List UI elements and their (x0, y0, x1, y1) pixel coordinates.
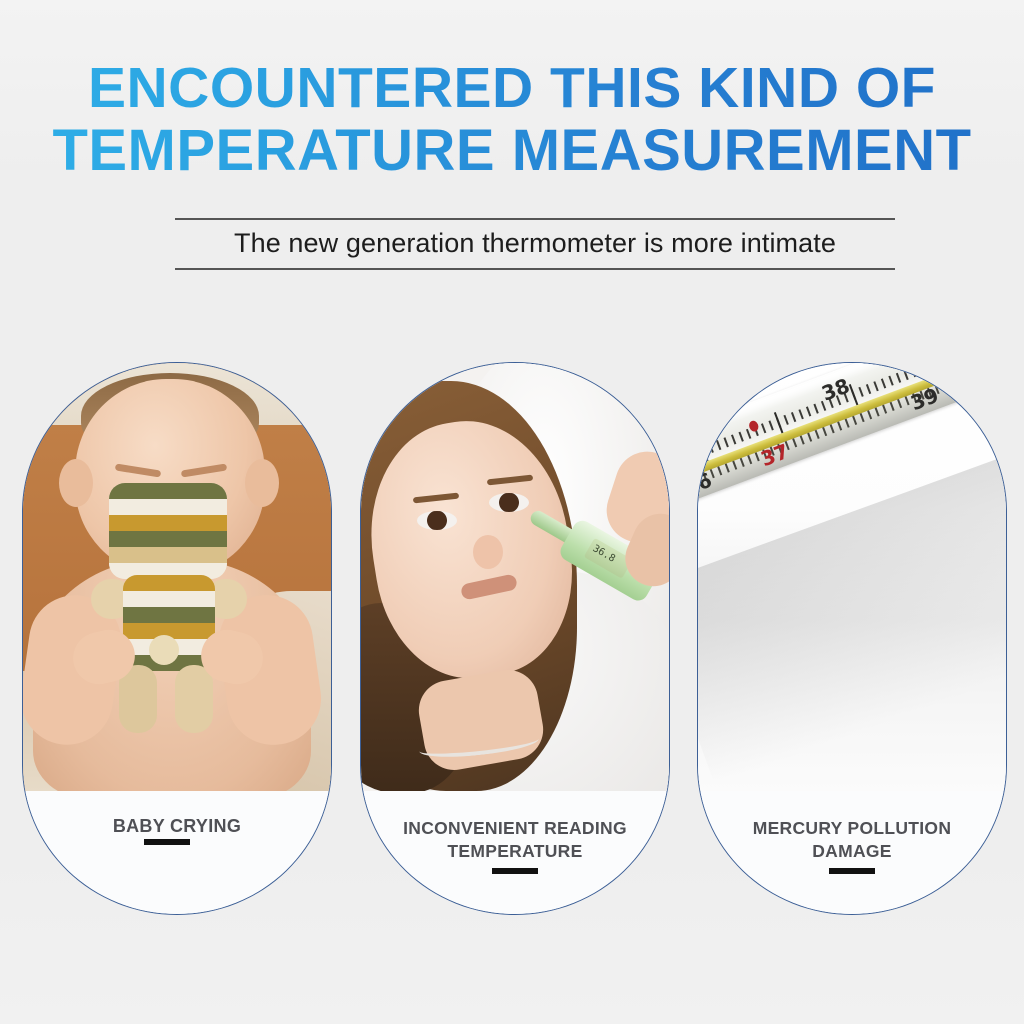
card-mercury-pollution[interactable]: 36 37 38 39 40 MERCURY POLLUTION DAMAGE (697, 362, 1007, 915)
caption-line-1: INCONVENIENT READING (403, 818, 627, 838)
card-caption-area: BABY CRYING (23, 791, 331, 914)
card-baby-crying[interactable]: BABY CRYING (22, 362, 332, 915)
caption-underline-bar (492, 868, 538, 874)
card-caption-baby-crying: BABY CRYING (23, 815, 331, 839)
card-caption-area: INCONVENIENT READING TEMPERATURE (361, 791, 669, 914)
caption-line-1: MERCURY POLLUTION (753, 818, 952, 838)
subtitle-band: The new generation thermometer is more i… (175, 218, 895, 270)
card-image-girl-thermometer: 36.8 (361, 363, 669, 791)
page-title: ENCOUNTERED THIS KIND OF TEMPERATURE MEA… (0, 58, 1024, 182)
card-caption-area: MERCURY POLLUTION DAMAGE (698, 791, 1006, 914)
subtitle-text: The new generation thermometer is more i… (175, 228, 895, 259)
headline-line-2: TEMPERATURE MEASUREMENT (0, 120, 1024, 183)
headline-line-1: ENCOUNTERED THIS KIND OF (88, 56, 936, 120)
card-image-baby-crying (23, 363, 331, 791)
caption-underline-bar (829, 868, 875, 874)
card-image-mercury-thermometer: 36 37 38 39 40 (698, 363, 1006, 791)
caption-line-1: BABY CRYING (113, 816, 241, 836)
plush-toy-icon (101, 483, 237, 733)
caption-underline-bar (144, 839, 190, 845)
card-row: BABY CRYING (0, 362, 1024, 920)
caption-line-2: TEMPERATURE (447, 841, 582, 861)
card-inconvenient-reading[interactable]: 36.8 INCONVENIENT READING TEMPERATURE (360, 362, 670, 915)
caption-line-2: DAMAGE (812, 841, 892, 861)
infographic-page: ENCOUNTERED THIS KIND OF TEMPERATURE MEA… (0, 0, 1024, 1024)
card-caption-mercury-pollution: MERCURY POLLUTION DAMAGE (698, 817, 1006, 863)
card-caption-inconvenient-reading: INCONVENIENT READING TEMPERATURE (361, 817, 669, 863)
